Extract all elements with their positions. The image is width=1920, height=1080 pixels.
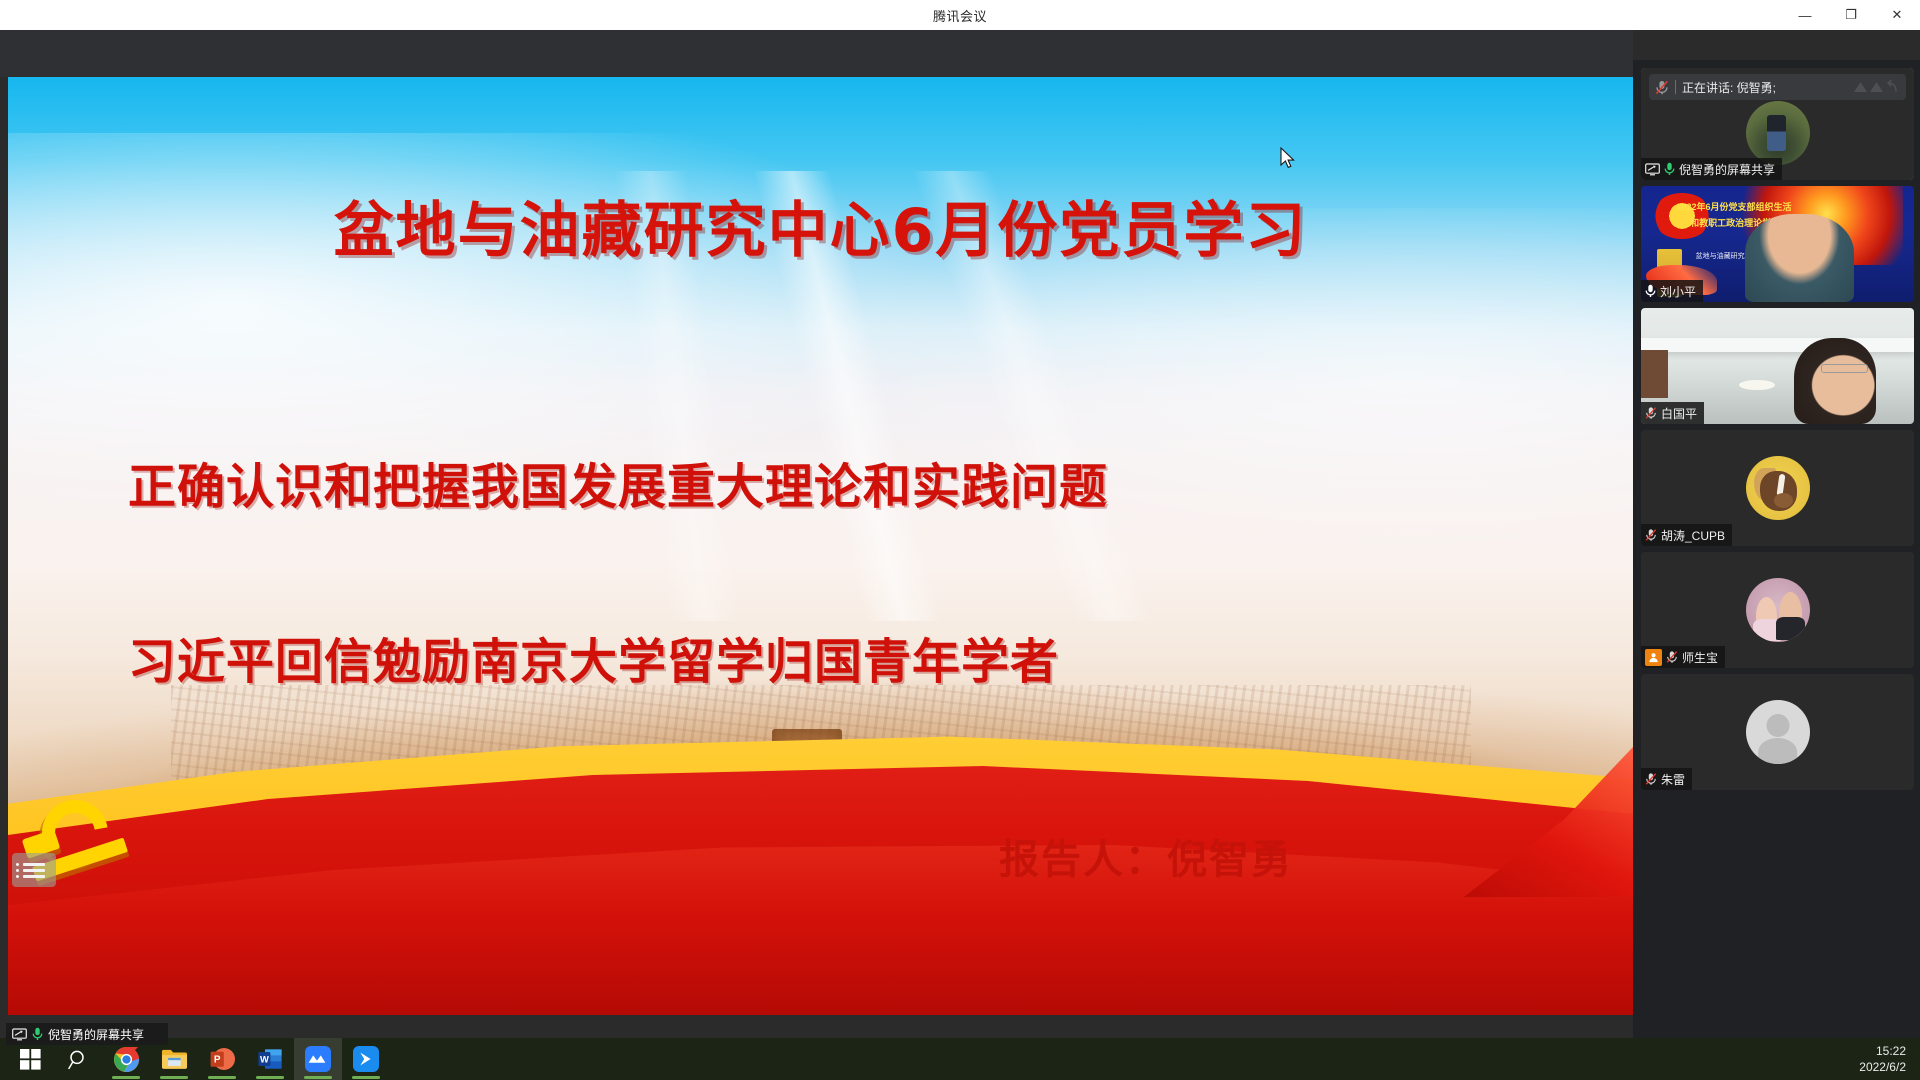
mic-muted-icon: [1666, 650, 1678, 664]
mic-muted-icon: [1655, 80, 1669, 95]
slide-topic-line-1: 正确认识和把握我国发展重大理论和实践问题: [128, 447, 1308, 517]
folder-icon: [161, 1047, 188, 1071]
slide-presenter-label: 报告人：倪智勇: [999, 827, 1293, 885]
banner-arrow-controls[interactable]: [1853, 79, 1900, 95]
tile-name-bar: 朱雷: [1641, 768, 1692, 790]
slide-topic-line-2: 习近平回信勉励南京大学留学归国青年学者: [128, 622, 1308, 692]
back-arrow-icon[interactable]: [1885, 79, 1900, 95]
participant-tile-screen-share[interactable]: 正在讲话: 倪智勇;: [1641, 68, 1914, 180]
window-title: 腾讯会议: [933, 6, 987, 25]
clock-date: 2022/6/2: [1859, 1059, 1906, 1075]
participant-tile-shishengbao[interactable]: 师生宝: [1641, 552, 1914, 668]
mic-muted-icon: [1645, 528, 1657, 542]
host-person-icon: [1648, 652, 1659, 663]
tile-name-bar: 倪智勇的屏幕共享: [1641, 158, 1782, 180]
maximize-button[interactable]: ❐: [1828, 0, 1874, 30]
screen-share-indicator: 倪智勇的屏幕共享: [6, 1023, 168, 1045]
tile-name-bar: 刘小平: [1641, 280, 1703, 302]
participant-tile-hutao[interactable]: 胡涛_CUPB: [1641, 430, 1914, 546]
search-icon: [68, 1049, 89, 1070]
share-indicator-label: 倪智勇的屏幕共享: [48, 1026, 144, 1043]
powerpoint-icon: P: [209, 1046, 235, 1072]
windows-taskbar: P W: [0, 1038, 1920, 1080]
speaking-banner: 正在讲话: 倪智勇;: [1649, 74, 1906, 100]
powerpoint-button[interactable]: P: [198, 1038, 246, 1080]
svg-text:W: W: [260, 1053, 269, 1064]
word-button[interactable]: W: [246, 1038, 294, 1080]
avatar: [1746, 456, 1810, 520]
chrome-icon: [113, 1046, 140, 1073]
clock-time: 15:22: [1876, 1043, 1906, 1059]
participant-name: 胡涛_CUPB: [1661, 527, 1725, 544]
mic-muted-icon: [1645, 772, 1657, 786]
share-top-strip: [0, 30, 1633, 77]
participant-name: 刘小平: [1660, 283, 1696, 300]
participant-name: 师生宝: [1682, 649, 1718, 666]
avatar: [1746, 101, 1810, 165]
participant-tile-bai[interactable]: 白国平: [1641, 308, 1914, 424]
participant-rail: 正在讲话: 倪智勇;: [1633, 60, 1920, 1080]
screen-share-icon: [1645, 163, 1660, 176]
shared-screen-area[interactable]: 盆地与油藏研究中心6月份党员学习 正确认识和把握我国发展重大理论和实践问题 习近…: [8, 77, 1633, 1015]
close-button[interactable]: ✕: [1874, 0, 1920, 30]
collapse-arrow-icon-2[interactable]: [1869, 79, 1884, 95]
mic-on-icon: [1664, 162, 1675, 176]
speaking-label: 正在讲话: 倪智勇;: [1682, 79, 1847, 96]
party-emblem-icon: [18, 790, 148, 905]
participant-name: 倪智勇的屏幕共享: [1679, 161, 1775, 178]
windows-logo-icon: [20, 1049, 41, 1070]
avatar: [1746, 700, 1810, 764]
slide-title: 盆地与油藏研究中心6月份党员学习: [8, 182, 1633, 269]
host-badge: [1645, 649, 1662, 666]
minimize-button[interactable]: —: [1782, 0, 1828, 30]
tencent-meeting-button[interactable]: [294, 1038, 342, 1080]
participant-name: 白国平: [1661, 405, 1697, 422]
mic-on-icon: [32, 1027, 43, 1041]
tile-name-bar: 白国平: [1641, 402, 1704, 424]
participant-name: 朱雷: [1661, 771, 1685, 788]
word-icon: W: [257, 1046, 283, 1072]
avatar: [1746, 578, 1810, 642]
window-controls: — ❐ ✕: [1782, 0, 1920, 30]
presentation-menu-icon[interactable]: [12, 853, 56, 887]
collapse-arrow-icon[interactable]: [1853, 79, 1868, 95]
mic-on-icon: [1645, 284, 1656, 298]
svg-text:P: P: [214, 1055, 221, 1066]
meeting-window-body: 盆地与油藏研究中心6月份党员学习 正确认识和把握我国发展重大理论和实践问题 习近…: [0, 30, 1920, 1050]
blue-app-icon: [353, 1046, 379, 1072]
window-titlebar: 腾讯会议 — ❐ ✕: [0, 0, 1920, 30]
taskbar-clock[interactable]: 15:22 2022/6/2: [1859, 1038, 1906, 1080]
tencent-meeting-icon: [305, 1046, 331, 1072]
powerpoint-slide: 盆地与油藏研究中心6月份党员学习 正确认识和把握我国发展重大理论和实践问题 习近…: [8, 77, 1633, 1015]
mic-muted-icon: [1645, 406, 1657, 420]
participant-tile-zhulei[interactable]: 朱雷: [1641, 674, 1914, 790]
app-button[interactable]: [342, 1038, 390, 1080]
screen-share-icon: [12, 1028, 27, 1041]
tile-name-bar: 胡涛_CUPB: [1641, 524, 1732, 546]
tile-name-bar: 师生宝: [1641, 646, 1725, 668]
participant-tile-liu[interactable]: 2022年6月份党支部组织生活 和教职工政治理论学习 盆地与油藏研究中心教工党支…: [1641, 186, 1914, 302]
